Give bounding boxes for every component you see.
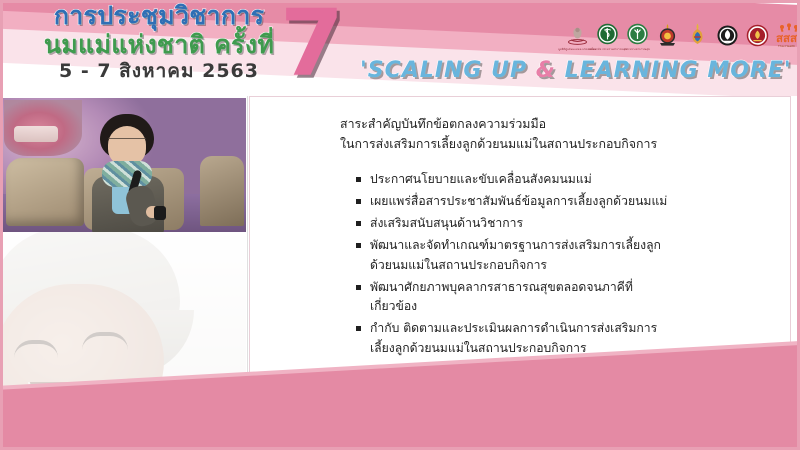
- bullet-text-line: พัฒนาและจัดทำเกณฑ์มาตรฐานการส่งเสริมการเ…: [370, 238, 661, 252]
- video-chair-left: [6, 158, 84, 226]
- black-circle-emblem-logo: [715, 23, 740, 48]
- speaker-glasses: [108, 138, 146, 147]
- content-bullet-list: ประกาศนโยบายและขับเคลื่อนสังคมนมแม่ เผยแ…: [356, 170, 788, 358]
- content-divider: [247, 96, 248, 396]
- svg-text:Thai Health: Thai Health: [777, 44, 795, 48]
- royal-crest-logo: มูลนิธิศูนย์นมแม่แห่งประเทศไทย: [565, 23, 590, 48]
- svg-text:สสส: สสส: [776, 31, 798, 45]
- frame-border-top: [0, 0, 800, 3]
- royal-garuda-logo: [685, 23, 710, 48]
- conference-title-block: การประชุมวิชาการ นมแม่แห่งชาติ ครั้งที่ …: [14, 2, 304, 82]
- bullet-text-line: เผยแพร่สื่อสารประชาสัมพันธ์ข้อมูลการเลี้…: [370, 194, 667, 208]
- conference-title-line1: การประชุมวิชาการ: [14, 2, 304, 30]
- bullet-square-icon: [356, 177, 361, 182]
- bullet-square-icon: [356, 326, 361, 331]
- video-chair-right: [200, 156, 244, 226]
- conference-banner: การประชุมวิชาการ นมแม่แห่งชาติ ครั้งที่ …: [0, 0, 800, 96]
- frame-border-left: [0, 0, 3, 450]
- bullet-square-icon: [356, 221, 361, 226]
- content-heading: สาระสำคัญบันทึกข้อตกลงความร่วมมือ ในการส…: [340, 114, 788, 154]
- presentation-slide: การประชุมวิชาการ นมแม่แห่งชาติ ครั้งที่ …: [0, 0, 800, 450]
- content-heading-line2: ในการส่งเสริมการเลี้ยงลูกด้วยนมแม่ในสถาน…: [340, 134, 788, 154]
- bullet-square-icon: [356, 199, 361, 204]
- sponsor-logo-strip: มูลนิธิศูนย์นมแม่แห่งประเทศไทย กรมอนามัย…: [565, 22, 800, 48]
- ministry-public-health-logo: กรมอนามัย กระทรวงสาธารณสุข: [595, 23, 620, 48]
- bullet-item: เผยแพร่สื่อสารประชาสัมพันธ์ข้อมูลการเลี้…: [356, 192, 788, 212]
- tagline-part-before: 'SCALING UP: [360, 58, 536, 83]
- edition-number: 7: [280, 0, 344, 90]
- red-circle-emblem-logo: [745, 23, 770, 48]
- video-speaker-figure: [84, 114, 170, 232]
- video-backdrop-teeth-graphic: [14, 126, 58, 142]
- bullet-text-line: พัฒนาศักยภาพบุคลากรสาธารณสุขตลอดจนภาคีที…: [370, 280, 633, 294]
- bullet-text-line-continued: เกี่ยวข้อง: [370, 297, 788, 317]
- bullet-item: พัฒนาศักยภาพบุคลากรสาธารณสุขตลอดจนภาคีที…: [356, 278, 788, 317]
- conference-tagline: 'SCALING UP & LEARNING MORE': [360, 58, 792, 83]
- bullet-item: ส่งเสริมสนับสนุนด้านวิชาการ: [356, 214, 788, 234]
- ministry-logo-caption: กรมอนามัย กระทรวงสาธารณสุข: [588, 48, 627, 52]
- content-heading-line1: สาระสำคัญบันทึกข้อตกลงความร่วมมือ: [340, 114, 788, 134]
- speaker-remote-clicker: [154, 206, 166, 220]
- bullet-text-line: กำกับ ติดตามและประเมินผลการดำเนินการส่งเ…: [370, 321, 657, 335]
- bullet-text-line-continued: ด้วยนมแม่ในสถานประกอบกิจการ: [370, 256, 788, 276]
- tagline-part-after: LEARNING MORE': [556, 58, 792, 83]
- bullet-square-icon: [356, 243, 361, 248]
- university-emblem-logo: [655, 23, 680, 48]
- department-health-logo: กระทรวงสาธารณสุข: [625, 23, 650, 48]
- speaker-scarf: [102, 161, 152, 187]
- conference-date: 5 - 7 สิงหาคม 2563: [14, 60, 304, 82]
- speaker-video-thumbnail[interactable]: [0, 98, 246, 232]
- department-logo-caption: กระทรวงสาธารณสุข: [625, 48, 650, 52]
- conference-title-line2: นมแม่แห่งชาติ ครั้งที่: [14, 30, 304, 59]
- bullet-item: พัฒนาและจัดทำเกณฑ์มาตรฐานการส่งเสริมการเ…: [356, 236, 788, 275]
- tagline-ampersand: &: [536, 58, 556, 83]
- bullet-item: ประกาศนโยบายและขับเคลื่อนสังคมนมแม่: [356, 170, 788, 190]
- bullet-square-icon: [356, 285, 361, 290]
- bullet-text-line: ประกาศนโยบายและขับเคลื่อนสังคมนมแม่: [370, 172, 592, 186]
- bullet-text-line: ส่งเสริมสนับสนุนด้านวิชาการ: [370, 216, 523, 230]
